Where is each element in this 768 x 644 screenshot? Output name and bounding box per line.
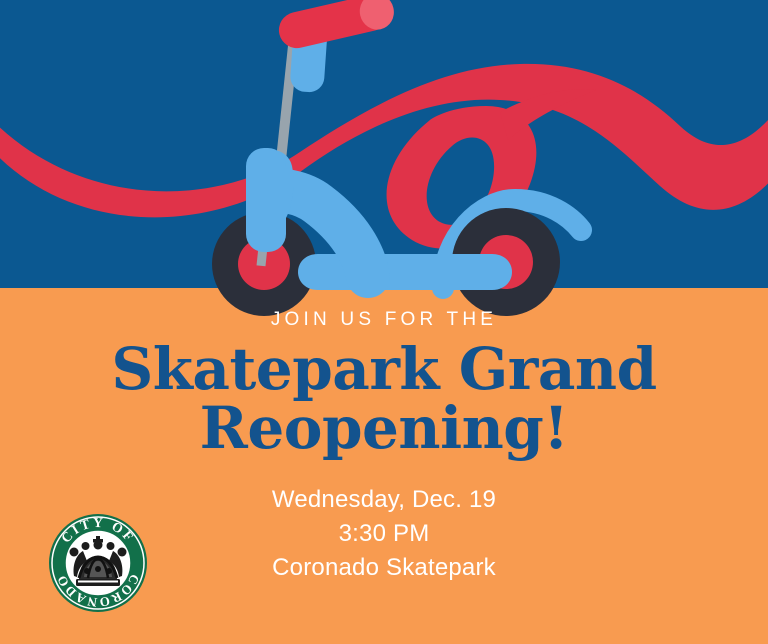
handlebar [275,0,397,52]
scooter-deck [298,254,512,290]
kicker-text: JOIN US FOR THE [0,310,768,329]
red-ribbon-icon [0,64,768,249]
headline-line-1: Skatepark Grand [111,335,656,403]
page-title: Skatepark Grand Reopening! [0,340,768,458]
event-date: Wednesday, Dec. 19 [0,483,768,517]
city-of-coronado-logo: CITY OF CORONADO [48,513,148,613]
event-poster: JOIN US FOR THE Skatepark Grand Reopenin… [0,0,768,644]
headline-line-2: Reopening! [0,399,768,458]
